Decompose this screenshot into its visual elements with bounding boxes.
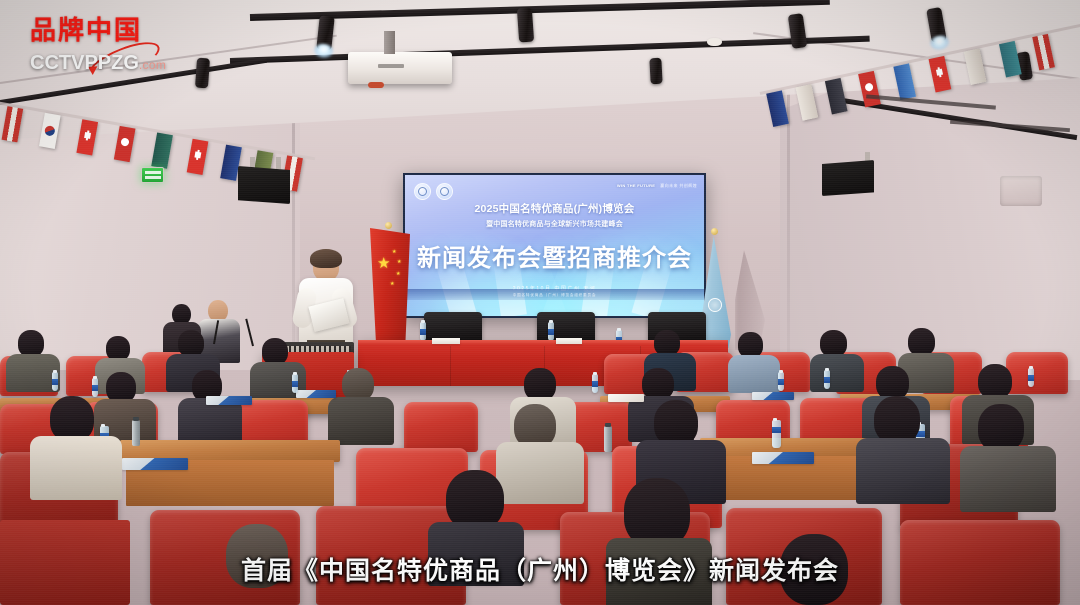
screen-band-text: 中国名特优商品（广州）博览会组织委员会 <box>405 293 704 298</box>
attendee-torso <box>728 355 780 393</box>
broadcaster-logo-en: CCTVPPZG.com <box>30 53 166 73</box>
flag-star-icon: ★ <box>390 282 394 287</box>
attendee-torso <box>30 436 122 500</box>
wall-corner-right <box>787 85 790 375</box>
water-bottle <box>772 420 781 448</box>
attendee-torso <box>810 354 864 392</box>
attendee-head <box>978 364 1012 399</box>
event-folder <box>608 394 644 402</box>
projection-screen-surface: WIN THE FUTURE 赢向未来 共创辉煌 2025中国名特优商品(广州)… <box>405 175 704 316</box>
screen-organizer-badges <box>414 183 453 200</box>
speaker-mount <box>276 157 281 169</box>
event-folder <box>206 396 252 405</box>
audience-seat <box>404 402 478 452</box>
flag-star-icon: ★ <box>397 260 401 265</box>
water-bottle <box>548 322 554 341</box>
water-bottle <box>592 374 598 393</box>
broadcaster-logo: 品牌中国 CCTVPPZG.com <box>30 18 166 75</box>
flag-star-icon: ★ <box>396 272 400 277</box>
table-document <box>432 338 460 344</box>
water-bottle <box>824 370 830 389</box>
water-bottle <box>778 372 784 391</box>
organizer-emblem-icon <box>414 183 431 200</box>
event-folder <box>296 390 336 398</box>
flag-star-icon: ★ <box>377 256 390 271</box>
screen-text-block: 2025中国名特优商品(广州)博览会 暨中国名特优商品与全球新兴市场共建峰会 新… <box>405 201 704 292</box>
thermos-tumbler <box>132 420 140 446</box>
audience-seat <box>1006 352 1068 394</box>
screen-slogan-cn: 赢向未来 共创辉煌 <box>660 183 697 188</box>
water-bottle <box>52 372 58 391</box>
projector-mount-arm <box>384 31 395 54</box>
screen-slogan-en: WIN THE FUTURE <box>617 183 655 188</box>
attendee-head <box>876 366 909 400</box>
attendee-head <box>262 338 288 365</box>
presenter-hair <box>310 249 342 268</box>
smoke-detector-icon <box>707 38 722 46</box>
organizer-emblem-icon <box>436 183 453 200</box>
attendee-torso <box>856 438 950 504</box>
attendee-torso <box>328 397 394 445</box>
event-folder <box>752 452 814 464</box>
water-bottle <box>1028 368 1034 387</box>
projector-lens <box>368 82 384 88</box>
water-bottle <box>420 322 426 341</box>
broadcast-video-frame: WIN THE FUTURE 赢向未来 共创辉煌 2025中国名特优商品(广州)… <box>0 0 1080 605</box>
exit-sign-icon <box>141 167 164 183</box>
attendee-head <box>446 470 504 530</box>
projector-label <box>378 64 404 68</box>
table-cloth-fold <box>450 346 451 386</box>
broadcast-subtitle: 首届《中国名特优商品（广州）博览会》新闻发布会 <box>0 551 1080 587</box>
wall-speaker-left <box>238 166 290 204</box>
broadcaster-logo-sub-wrap: CCTVPPZG.com <box>30 53 166 75</box>
attendee-head <box>908 328 935 356</box>
wall-speaker-right <box>822 160 874 196</box>
spotlight-icon <box>195 58 210 89</box>
table-document <box>556 338 582 344</box>
projection-screen: WIN THE FUTURE 赢向未来 共创辉煌 2025中国名特优商品(广州)… <box>403 173 706 318</box>
spotlight-icon <box>649 58 662 85</box>
screen-headline: 新闻发布会暨招商推介会 <box>405 238 704 273</box>
water-bottle <box>92 378 98 397</box>
attendee-torso <box>960 446 1056 512</box>
attendee-head <box>18 330 44 357</box>
screen-event-title-line2: 暨中国名特优商品与全球新兴市场共建峰会 <box>405 219 704 229</box>
wall-vent <box>1000 176 1042 206</box>
attendee-head <box>978 404 1024 452</box>
exit-sign-glyph <box>145 171 161 181</box>
flagpole-finial <box>711 228 718 235</box>
broadcaster-logo-cn: 品牌中国 <box>30 18 166 44</box>
un-emblem-icon <box>708 298 722 312</box>
flagpole-finial <box>385 222 392 229</box>
broadcaster-logo-en-text: CCTVPPZG <box>30 52 139 74</box>
attendee-head <box>178 330 204 357</box>
event-folder <box>752 392 794 400</box>
spotlight-icon <box>517 8 534 43</box>
screen-corner-slogan: WIN THE FUTURE 赢向未来 共创辉煌 <box>617 183 697 188</box>
attendee-head <box>820 330 847 357</box>
china-national-flag: ★ ★ ★ ★ ★ <box>370 228 410 348</box>
thermos-tumbler <box>604 426 612 452</box>
flag-star-icon: ★ <box>392 250 396 255</box>
event-folder <box>122 458 188 470</box>
broadcaster-logo-domain: .com <box>139 58 166 72</box>
ceiling-projector <box>348 52 452 84</box>
attendee-head <box>874 396 920 444</box>
screen-event-title-line1: 2025中国名特优商品(广州)博览会 <box>405 201 704 216</box>
attendee-torso <box>496 442 584 504</box>
water-bottle <box>292 374 298 393</box>
